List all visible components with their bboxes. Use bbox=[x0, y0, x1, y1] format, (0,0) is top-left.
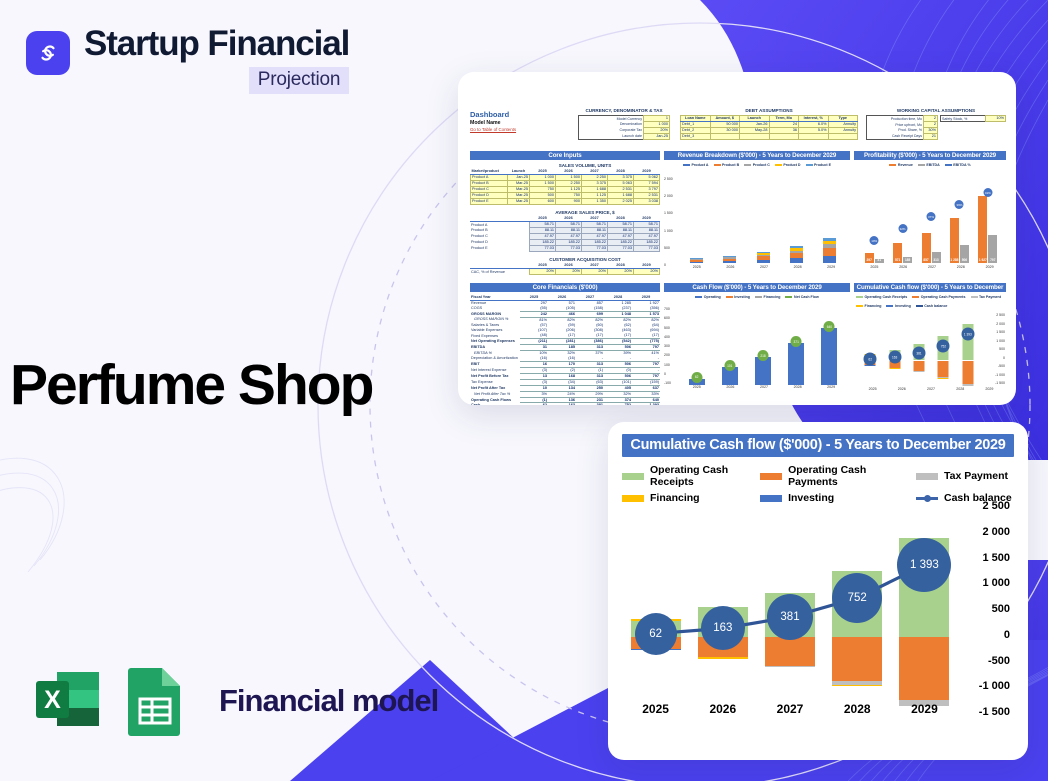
axis-tick: 2029 bbox=[814, 385, 848, 389]
legend-item: Product C bbox=[744, 163, 770, 167]
bar-group: 640 bbox=[813, 328, 846, 385]
legend-label: Product D bbox=[783, 163, 800, 167]
cell: 20% bbox=[530, 269, 556, 275]
bar-label: 1 927 bbox=[979, 258, 987, 262]
bar-segment bbox=[765, 666, 815, 668]
legend-label: Financing bbox=[865, 304, 882, 308]
bar-segment bbox=[698, 657, 748, 659]
legend-swatch bbox=[806, 164, 813, 167]
cell: Product E bbox=[470, 245, 530, 251]
bar-group: 218 bbox=[746, 357, 779, 385]
legend-label: Investing bbox=[734, 295, 750, 299]
bar-segment bbox=[914, 361, 925, 372]
pct-node: 37% bbox=[927, 212, 936, 221]
legend-item: EBITDA % bbox=[945, 163, 971, 167]
legend-item: Operating bbox=[695, 295, 720, 299]
table-row: CAC, % of Revenue20%20%20%20%20% bbox=[470, 269, 660, 275]
y-axis-tick: -1 000 bbox=[979, 680, 1010, 692]
cash-balance-node: 163 bbox=[701, 606, 745, 650]
cell: 77.03 bbox=[634, 245, 660, 251]
legend-label: Operating Cash Receipts bbox=[865, 295, 908, 299]
cell: Debt_3 bbox=[681, 134, 711, 140]
legend-swatch bbox=[971, 296, 978, 299]
bar-label: 857 bbox=[923, 258, 928, 262]
legend-swatch bbox=[726, 296, 733, 299]
axis-tick: 2029 bbox=[975, 387, 1004, 391]
legend-label: Investing bbox=[788, 492, 834, 504]
debt-table: Loan NameAmount, $LaunchTerm, MoInterest… bbox=[680, 115, 858, 140]
cell: Cash Receipt Days bbox=[867, 134, 924, 140]
axis-tick: -1 000 bbox=[995, 373, 1005, 377]
legend-label: Investing bbox=[895, 304, 911, 308]
bar-group: 62 bbox=[858, 313, 882, 389]
bar-group: 2973110% bbox=[860, 253, 888, 263]
dashboard-preview-card[interactable]: Dashboard Model Name Go to Table of Cont… bbox=[458, 72, 1016, 405]
cell: 900 bbox=[556, 199, 582, 205]
legend-item: Revenue bbox=[889, 163, 912, 167]
bar-segment bbox=[790, 258, 803, 263]
pct-node: 41% bbox=[983, 188, 992, 197]
cash-balance-node: 62 bbox=[635, 613, 677, 655]
legend-swatch bbox=[916, 473, 938, 480]
bar-label: 313 bbox=[933, 258, 938, 262]
revenue-bar: 297 bbox=[865, 253, 874, 263]
cell: 21 bbox=[924, 134, 938, 140]
legend-swatch bbox=[760, 495, 782, 502]
cell: 3 038 bbox=[634, 199, 660, 205]
legend-label: Revenue bbox=[898, 163, 913, 167]
bar-segment bbox=[914, 371, 925, 372]
cash-flow-legend: OperatingInvestingFinancingNet Cash Flow bbox=[664, 295, 850, 299]
axis-tick: 2 500 bbox=[996, 313, 1005, 317]
profitability-plot: 2973110%57118532%85731337%1 28550639%1 9… bbox=[860, 179, 1002, 263]
legend-item: Product B bbox=[714, 163, 740, 167]
legend-item: Investing bbox=[886, 304, 910, 308]
bar-group: 381 bbox=[907, 313, 931, 389]
axis-tick: 2026 bbox=[714, 265, 748, 269]
legend-label: Financing bbox=[764, 295, 781, 299]
brand-subtitle: Projection bbox=[249, 67, 350, 94]
safety-stock-table: Safety Stock, % 10% bbox=[940, 115, 1006, 122]
table-row: Launch dateJan-25 bbox=[579, 134, 670, 140]
axis-tick: 2027 bbox=[747, 265, 781, 269]
axis-tick: 2 000 bbox=[664, 194, 673, 198]
axis-tick: 2028 bbox=[781, 385, 815, 389]
axis-tick: 2028 bbox=[781, 265, 815, 269]
axis-tick: 1 000 bbox=[996, 339, 1005, 343]
axis-tick: 2 000 bbox=[996, 322, 1005, 326]
bar-group bbox=[746, 252, 779, 263]
legend-swatch bbox=[889, 164, 896, 167]
y-axis-tick: -1 500 bbox=[979, 706, 1010, 718]
axis-tick: 500 bbox=[999, 347, 1005, 351]
cell: 77.03 bbox=[530, 245, 556, 251]
core-financials-table: Fiscal Year20252026202720282029 Revenue2… bbox=[470, 295, 660, 405]
bar-segment bbox=[832, 637, 882, 681]
axis-tick: -100 bbox=[664, 381, 671, 385]
cumulative-small-legend: Operating Cash ReceiptsOperating Cash Pa… bbox=[854, 295, 1006, 308]
legend-label: Product E bbox=[814, 163, 831, 167]
operating-bar bbox=[788, 343, 804, 385]
legend-item: Financing bbox=[856, 304, 881, 308]
legend-item: Operating Cash Payments bbox=[912, 295, 965, 299]
profitability-header: Profitability ($'000) - 5 Years to Decem… bbox=[854, 151, 1006, 160]
svg-text:X: X bbox=[44, 686, 61, 714]
ebitda-bar: 797 bbox=[988, 235, 997, 263]
legend-item: Tax Payment bbox=[971, 295, 1001, 299]
cell bbox=[769, 134, 799, 140]
legend-item: Investing bbox=[726, 295, 750, 299]
bar-label: 797 bbox=[990, 258, 995, 262]
legend-label: Operating Cash Payments bbox=[921, 295, 966, 299]
safety-stock-value: 10% bbox=[986, 116, 1006, 122]
legend-label: Tax Payment bbox=[979, 295, 1001, 299]
ebitda-bar: 506 bbox=[960, 245, 969, 263]
bar-segment bbox=[823, 248, 836, 256]
axis-tick: 0 bbox=[1003, 356, 1005, 360]
cumulative-small-xaxis: 20252026202720282029 bbox=[858, 387, 1004, 391]
bar-label: 31 bbox=[877, 258, 881, 262]
x-axis-tick: 2026 bbox=[689, 702, 756, 716]
cash-balance-node: 381 bbox=[767, 594, 813, 640]
profitability-xaxis: 20252026202720282029 bbox=[860, 265, 1004, 269]
y-axis-tick: -500 bbox=[988, 655, 1010, 667]
legend-item: Net Cash Flow bbox=[785, 295, 818, 299]
google-sheets-icon bbox=[123, 663, 191, 738]
page-title: Perfume Shop bbox=[10, 357, 372, 414]
cell: 20% bbox=[582, 269, 608, 275]
bar-label: 297 bbox=[867, 258, 872, 262]
pct-node: 32% bbox=[898, 224, 907, 233]
cell: 20% bbox=[556, 269, 582, 275]
bar-group: 1 92779741% bbox=[974, 196, 1002, 263]
safety-stock-label: Safety Stock, % bbox=[941, 116, 986, 122]
legend-item: Investing bbox=[760, 492, 916, 504]
cell: Product E bbox=[471, 199, 508, 205]
cell: 77.03 bbox=[582, 245, 608, 251]
currency-block-title: CURRENCY, DENOMINATOR & TAX bbox=[578, 108, 670, 114]
legend-swatch bbox=[916, 305, 923, 308]
cash-flow-chart: OperatingInvestingFinancingNet Cash Flow… bbox=[664, 295, 850, 399]
bar-segment bbox=[723, 261, 736, 263]
legend-swatch bbox=[622, 473, 644, 480]
pct-node: 10% bbox=[870, 236, 879, 245]
revenue-bar: 1 285 bbox=[950, 218, 959, 263]
bar-segment bbox=[962, 384, 973, 386]
axis-tick: 2025 bbox=[680, 385, 714, 389]
x-axis-tick: 2027 bbox=[756, 702, 823, 716]
cumulative-cashflow-chart: Cumulative Cash flow ($'000) - 5 Years t… bbox=[608, 422, 1028, 760]
y-axis-tick: 1 500 bbox=[982, 552, 1010, 564]
bar-group: 1 393 bbox=[956, 313, 980, 389]
cash-balance-node: 752 bbox=[832, 573, 882, 623]
dashboard-sheet: Dashboard Model Name Go to Table of Cont… bbox=[458, 72, 1016, 405]
axis-tick: 1 500 bbox=[664, 211, 673, 215]
cell: 2 025 bbox=[608, 199, 634, 205]
brand-title: Startup Financial bbox=[84, 26, 349, 63]
y-axis-tick: 500 bbox=[992, 603, 1010, 615]
core-inputs-header: Core Inputs bbox=[470, 151, 660, 160]
cell bbox=[799, 134, 829, 140]
table-row: Debt_3 bbox=[681, 134, 858, 140]
bar-segment bbox=[823, 256, 836, 263]
toc-link[interactable]: Go to Table of Contents bbox=[470, 127, 570, 132]
cell: Jan-25 bbox=[644, 134, 670, 140]
axis-tick: 2025 bbox=[680, 265, 714, 269]
axis-tick: 2027 bbox=[918, 265, 947, 269]
dashboard-title: Dashboard bbox=[470, 110, 570, 119]
bar-segment bbox=[938, 361, 949, 377]
cell: 77.03 bbox=[556, 245, 582, 251]
axis-tick: 0 bbox=[664, 263, 666, 267]
axis-tick: 300 bbox=[664, 344, 670, 348]
axis-tick: 1 000 bbox=[664, 229, 673, 233]
profitability-chart: RevenueEBITDAEBITDA % 2973110%57118532%8… bbox=[854, 163, 1006, 281]
axis-tick: 200 bbox=[664, 353, 670, 357]
chart-legend: Operating Cash ReceiptsOperating Cash Pa… bbox=[622, 464, 1014, 504]
legend-item: Operating Cash Payments bbox=[760, 464, 916, 488]
axis-tick: 500 bbox=[664, 326, 670, 330]
legend-item: Product A bbox=[683, 163, 709, 167]
financial-model-label: Financial model bbox=[219, 683, 438, 719]
y-axis-tick: 2 000 bbox=[982, 526, 1010, 538]
axis-tick: 2027 bbox=[916, 387, 945, 391]
cash-flow-header: Cash Flow ($'000) - 5 Years to December … bbox=[664, 283, 850, 292]
axis-tick: 2025 bbox=[858, 387, 887, 391]
cash-flow-plot: 62101218371640 bbox=[680, 307, 846, 385]
cell: Net Operating Expenses bbox=[470, 339, 520, 345]
axis-tick: 1 500 bbox=[996, 330, 1005, 334]
axis-tick: 2026 bbox=[714, 385, 748, 389]
pct-node: 39% bbox=[955, 200, 964, 209]
net-cashflow-node: 62 bbox=[691, 372, 702, 383]
cash-balance-node: 1 393 bbox=[961, 328, 974, 341]
y-axis-tick: 2 500 bbox=[982, 500, 1010, 512]
legend-swatch bbox=[918, 164, 925, 167]
bar-segment bbox=[899, 637, 949, 700]
cumulative-small-chart: Operating Cash ReceiptsOperating Cash Pa… bbox=[854, 295, 1006, 399]
bar-group bbox=[780, 246, 813, 263]
revenue-breakdown-xaxis: 20252026202720282029 bbox=[680, 265, 848, 269]
bar-group bbox=[813, 238, 846, 263]
legend-swatch bbox=[695, 296, 702, 299]
brand-lockup: Startup Financial Projection bbox=[26, 26, 349, 94]
cumulative-cashflow-card[interactable]: Cumulative Cash flow ($'000) - 5 Years t… bbox=[608, 422, 1028, 760]
sales-price-table: 20252026202720282029 Product A58.7158.71… bbox=[470, 216, 660, 252]
legend-swatch bbox=[912, 296, 919, 299]
wc-table: Production time, Mo2Price upfront, Mo2Pr… bbox=[866, 115, 938, 140]
bar-segment bbox=[889, 368, 900, 369]
bar-group: 1 28550639% bbox=[945, 218, 973, 263]
ebitda-bar: 185 bbox=[903, 257, 912, 263]
legend-swatch bbox=[622, 495, 644, 502]
model-name-label: Model Name bbox=[470, 120, 570, 126]
legend-label: Operating Cash Payments bbox=[788, 464, 916, 488]
debt-block-title: DEBT ASSUMPTIONS bbox=[680, 108, 858, 114]
cash-flow-xaxis: 20252026202720282029 bbox=[680, 385, 848, 389]
legend-label: Net Cash Flow bbox=[794, 295, 819, 299]
axis-tick: -500 bbox=[998, 364, 1005, 368]
table-row: Cash Receipt Days21 bbox=[867, 134, 938, 140]
bar-segment bbox=[765, 637, 815, 666]
x-axis-tick: 2029 bbox=[891, 702, 958, 716]
legend-swatch bbox=[775, 164, 782, 167]
legend-label: EBITDA % bbox=[953, 163, 970, 167]
cac-table: 20252026202720282029 CAC, % of Revenue20… bbox=[470, 263, 660, 275]
legend-swatch bbox=[755, 296, 762, 299]
bar-label: 571 bbox=[895, 258, 900, 262]
cell: 600 bbox=[530, 199, 556, 205]
cell: 20% bbox=[634, 269, 660, 275]
axis-tick: 500 bbox=[664, 246, 670, 250]
legend-label: Tax Payment bbox=[944, 470, 1008, 482]
bar-label: 1 285 bbox=[950, 258, 958, 262]
bar-group: 57118532% bbox=[888, 243, 916, 263]
chart-plot-area: 2 5002 0001 5001 0005000-500-1 000-1 500… bbox=[622, 508, 1014, 714]
bar-group: 85731337% bbox=[917, 233, 945, 263]
axis-tick: 2026 bbox=[889, 265, 918, 269]
legend-label: EBITDA bbox=[926, 163, 939, 167]
axis-tick: 400 bbox=[664, 335, 670, 339]
cell bbox=[828, 134, 858, 140]
table-row: Product EMar-256009001 3502 0253 038 bbox=[471, 199, 660, 205]
table-row: Product E77.0377.0377.0377.0377.03 bbox=[470, 245, 660, 251]
net-cashflow-node: 371 bbox=[791, 336, 802, 347]
x-axis-tick: 2025 bbox=[622, 702, 689, 716]
profitability-legend: RevenueEBITDAEBITDA % bbox=[854, 163, 1006, 167]
legend-item: Product D bbox=[775, 163, 801, 167]
revenue-bar: 571 bbox=[893, 243, 902, 263]
cash-balance-node: 163 bbox=[888, 351, 901, 364]
bar-group: 101 bbox=[713, 367, 746, 385]
revenue-breakdown-plot bbox=[680, 177, 846, 263]
revenue-breakdown-chart: Product AProduct BProduct CProduct DProd… bbox=[664, 163, 850, 281]
revenue-breakdown-legend: Product AProduct BProduct CProduct DProd… bbox=[664, 163, 850, 167]
swirl-e-logo-icon bbox=[26, 31, 70, 75]
axis-tick: 2029 bbox=[975, 265, 1004, 269]
chart-title: Cumulative Cash flow ($'000) - 5 Years t… bbox=[622, 434, 1014, 457]
operating-bar bbox=[755, 357, 771, 385]
bar-label: 506 bbox=[962, 258, 967, 262]
legend-label: Operating Cash Receipts bbox=[650, 464, 760, 488]
axis-tick: 600 bbox=[664, 316, 670, 320]
cumulative-small-plot: 621633817521 393 bbox=[858, 313, 980, 389]
axis-tick: 2028 bbox=[946, 387, 975, 391]
cash-balance-node: 1 393 bbox=[897, 538, 951, 592]
sales-volume-table: Market/productLaunch20252026202720282029… bbox=[470, 169, 660, 205]
cell: 163 bbox=[548, 403, 576, 405]
bar-segment bbox=[962, 361, 973, 384]
core-financials-header: Core Financials ($'000) bbox=[470, 283, 660, 292]
legend-label: Product A bbox=[691, 163, 708, 167]
net-cashflow-node: 640 bbox=[824, 321, 835, 332]
bar-group: 163 bbox=[882, 313, 906, 389]
revenue-bar: 857 bbox=[922, 233, 931, 263]
bar-segment bbox=[757, 260, 770, 263]
axis-tick: 2028 bbox=[946, 265, 975, 269]
ebitda-bar: 313 bbox=[932, 252, 941, 263]
legend-line-swatch bbox=[916, 495, 938, 502]
currency-table: Model Currency1Denomination1 000Corporat… bbox=[578, 115, 670, 140]
axis-tick: 700 bbox=[664, 307, 670, 311]
legend-item: Operating Cash Receipts bbox=[622, 464, 760, 488]
cell: 62 bbox=[520, 403, 548, 405]
cash-balance-node: 752 bbox=[937, 340, 950, 353]
legend-label: Operating bbox=[704, 295, 721, 299]
cell: 1 393 bbox=[632, 403, 660, 405]
axis-tick: 2 500 bbox=[664, 177, 673, 181]
legend-item: Operating Cash Receipts bbox=[856, 295, 907, 299]
cell: Depreciation & Amortization bbox=[470, 356, 520, 361]
y-axis-tick: 0 bbox=[1004, 629, 1010, 641]
cell: Launch date bbox=[579, 134, 644, 140]
cumulative-small-header: Cumulative Cash flow ($'000) - 5 Years t… bbox=[854, 283, 1006, 292]
axis-tick: 2025 bbox=[860, 265, 889, 269]
bar-group: 371 bbox=[780, 343, 813, 385]
axis-tick: 0 bbox=[664, 372, 666, 376]
legend-item: Financing bbox=[622, 492, 760, 504]
legend-label: Product C bbox=[753, 163, 770, 167]
legend-label: Cash balance bbox=[924, 304, 947, 308]
legend-item: Product E bbox=[806, 163, 831, 167]
legend-item: EBITDA bbox=[918, 163, 940, 167]
axis-tick: -1 500 bbox=[995, 381, 1005, 385]
cell bbox=[740, 134, 770, 140]
file-formats-row: X Financial model bbox=[30, 663, 438, 738]
operating-bar bbox=[821, 328, 837, 385]
legend-label: Product B bbox=[722, 163, 739, 167]
cell: 77.03 bbox=[608, 245, 634, 251]
legend-swatch bbox=[856, 305, 863, 308]
bar-label: 185 bbox=[905, 258, 910, 262]
legend-swatch bbox=[785, 296, 792, 299]
legend-swatch bbox=[856, 296, 863, 299]
axis-tick: 2027 bbox=[747, 385, 781, 389]
bar-segment bbox=[690, 262, 703, 263]
x-axis-tick: 2028 bbox=[824, 702, 891, 716]
cash-balance-node: 62 bbox=[864, 353, 877, 366]
legend-swatch bbox=[886, 305, 893, 308]
cell: Mar-25 bbox=[508, 199, 530, 205]
wc-block-title: WORKING CAPITAL ASSUMPTIONS bbox=[866, 108, 1006, 114]
legend-label: Financing bbox=[650, 492, 700, 504]
chart-x-axis: 20252026202720282029 bbox=[622, 702, 958, 716]
legend-swatch bbox=[744, 164, 751, 167]
bar-group bbox=[680, 258, 713, 263]
cell: 752 bbox=[604, 403, 632, 405]
revenue-bar: 1 927 bbox=[978, 196, 987, 263]
cell: 1 350 bbox=[582, 199, 608, 205]
axis-tick: 2029 bbox=[814, 265, 848, 269]
cell: 20% bbox=[608, 269, 634, 275]
microsoft-excel-icon: X bbox=[30, 663, 105, 738]
ebitda-bar: 31 bbox=[875, 259, 884, 263]
legend-swatch bbox=[760, 473, 782, 480]
axis-tick: 100 bbox=[664, 363, 670, 367]
bar-segment bbox=[832, 685, 882, 686]
net-cashflow-node: 218 bbox=[758, 350, 769, 361]
legend-item: Tax Payment bbox=[916, 464, 1014, 488]
cell: Cash bbox=[470, 403, 520, 405]
swirl-glyph bbox=[35, 40, 61, 66]
legend-swatch bbox=[945, 164, 952, 167]
bar-group: 752 bbox=[931, 313, 955, 389]
bar-group bbox=[622, 508, 689, 714]
legend-item: Cash balance bbox=[916, 304, 948, 308]
legend-swatch bbox=[714, 164, 721, 167]
cell bbox=[710, 134, 740, 140]
cell: 381 bbox=[576, 403, 604, 405]
